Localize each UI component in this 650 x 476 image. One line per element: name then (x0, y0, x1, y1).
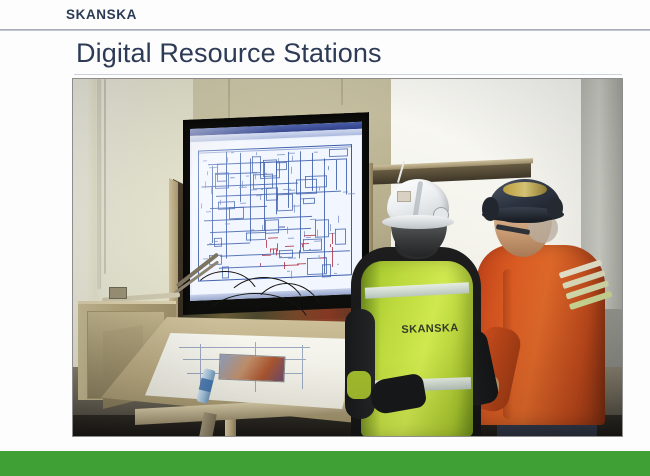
floorplan-line (291, 271, 292, 279)
floorplan-line (332, 255, 333, 267)
floorplan-line (285, 246, 294, 247)
floorplan-line (276, 169, 286, 170)
floorplan-line (289, 190, 295, 191)
worker-left-vest-logo-text: SKANSKA (393, 322, 467, 337)
cabinet-switch (109, 287, 127, 299)
skanska-logo: SKANSKA (66, 7, 137, 22)
floorplan-line (346, 158, 347, 194)
floorplan-line (317, 230, 318, 237)
floorplan-line (335, 229, 345, 230)
page-title: Digital Resource Stations (76, 38, 382, 69)
floorplan-line (214, 246, 221, 247)
floorplan-line (204, 216, 312, 222)
floorplan-line (265, 232, 278, 234)
floorplan-line (312, 153, 313, 191)
floorplan-line (335, 244, 345, 245)
floorplan-line (316, 179, 317, 194)
floorplan-line (277, 154, 285, 155)
floorplan-line (288, 153, 295, 154)
wall-cable-a (97, 79, 100, 289)
floorplan-line (256, 152, 257, 155)
floorplan-line (326, 175, 327, 187)
floorplan-line (329, 149, 330, 156)
floorplan-line (265, 219, 278, 221)
floorplan-line (321, 238, 322, 250)
floorplan-line (215, 241, 218, 242)
floorplan-line (302, 244, 303, 247)
floorplan-line (292, 205, 300, 206)
floorplan-line (309, 249, 311, 250)
floorplan-line (277, 243, 278, 251)
photo-scene: SKANSKA (73, 79, 622, 436)
floorplan-line (286, 162, 287, 170)
floorplan-line (287, 227, 288, 234)
floorplan-line (270, 249, 271, 253)
floorplan-line (231, 152, 234, 153)
worker-left-arm-left (345, 309, 375, 419)
floorplan-line (314, 241, 321, 242)
floorplan-line (288, 238, 294, 239)
ceiling-wire-b (341, 79, 343, 105)
floorplan-line (303, 239, 304, 250)
floorplan-line (260, 263, 261, 266)
footer-accent-bar (0, 451, 650, 476)
floorplan-line (211, 187, 212, 194)
worker-right-earmuff-left (482, 197, 499, 221)
floorplan-line (240, 203, 246, 204)
floorplan-line (227, 157, 228, 162)
floorplan-line (220, 250, 350, 256)
floorplan-line (296, 180, 297, 194)
worker-left-hardhat-brim (382, 215, 454, 229)
floorplan-line (229, 207, 230, 218)
floorplan-line (332, 247, 333, 255)
floorplan-line (322, 264, 323, 276)
floorplan-line (322, 264, 330, 265)
floorplan-line (228, 172, 229, 188)
floorplan-line (296, 179, 316, 181)
floorplan-line (277, 194, 292, 196)
floorplan-line (335, 229, 336, 244)
floorplan-line (250, 229, 254, 230)
floorplan-line (303, 203, 314, 204)
floorplan-line (296, 193, 316, 195)
floorplan-line (253, 174, 254, 188)
floorplan-line (278, 158, 279, 162)
worker-left-hardhat-badge (397, 191, 411, 202)
floorplan-line (220, 200, 221, 205)
floorplan-line (264, 173, 267, 174)
floorplan-line (217, 180, 226, 181)
floorplan-line (319, 188, 320, 191)
floorplan-line (326, 257, 327, 274)
floorplan-line (285, 264, 299, 266)
floorplan-line (214, 238, 221, 239)
floorplan-line (219, 265, 286, 269)
ceiling-wire-a (228, 79, 230, 119)
floorplan-line (315, 219, 328, 221)
floorplan-line (215, 173, 216, 188)
worker-right-earmuff-right (547, 197, 563, 219)
floorplan-line (205, 181, 206, 188)
slide-canvas: SKANSKA Digital Resource Stations (0, 0, 650, 476)
floorplan-line (330, 264, 331, 277)
wall-cable-b (104, 79, 106, 274)
floorplan-line (217, 163, 226, 164)
floorplan-line (243, 207, 244, 219)
floorplan-line (221, 238, 222, 247)
floorplan-line (330, 244, 331, 247)
floorplan-line (277, 210, 292, 212)
floorplan-line (226, 163, 227, 181)
floorplan-line (198, 151, 199, 281)
floorplan-line (266, 188, 267, 191)
floorplan-line (314, 152, 318, 153)
floorplan-line (260, 170, 261, 173)
slide-photo: SKANSKA (73, 79, 622, 436)
floorplan-line (201, 203, 202, 208)
floorplan-line (251, 189, 257, 190)
floorplan-line (334, 273, 337, 274)
floorplan-line (207, 171, 208, 175)
floorplan-line (292, 194, 293, 211)
floorplan-line (230, 177, 235, 178)
floorplan-line (328, 166, 329, 169)
floorplan-line (268, 237, 278, 238)
worker-left-glove (347, 371, 371, 399)
floorplan-line (291, 167, 292, 174)
floorplan-line (255, 174, 256, 179)
floorplan-line (343, 191, 348, 192)
title-underline (74, 74, 622, 75)
floorplan-line (303, 198, 314, 199)
floorplan-line (299, 250, 300, 258)
floorplan-line (336, 160, 337, 190)
floorplan-line (287, 271, 290, 272)
floorplan-line (279, 256, 282, 257)
floorplan-line (305, 176, 306, 187)
floorplan-line (246, 232, 265, 234)
worker-right-hardhat-highlight (503, 182, 547, 197)
floorplan-line (292, 156, 293, 161)
floorplan-line (322, 276, 330, 277)
floorplan-line (329, 155, 347, 157)
floorplan-line (300, 151, 301, 252)
floorplan-line (246, 233, 247, 240)
floorplan-line (306, 237, 311, 238)
floorplan-line (351, 144, 352, 274)
floorplan-line (229, 207, 243, 209)
floorplan-line (206, 211, 211, 212)
floorplan-line (246, 176, 249, 177)
floorplan-line (203, 160, 207, 161)
floorplan-line (305, 175, 326, 177)
floorplan-line (329, 148, 347, 150)
floorplan-line (345, 228, 346, 244)
floorplan-line (277, 194, 278, 210)
floorplan-line (239, 187, 247, 188)
floorplan-line (225, 223, 230, 224)
floorplan-line (209, 243, 212, 244)
floorplan-line (217, 164, 218, 181)
floorplan-line (276, 159, 277, 176)
floorplan-line (279, 250, 292, 252)
floorplan-line (252, 156, 260, 157)
floorplan-line (292, 250, 293, 258)
floorplan-line (265, 220, 266, 233)
floorplan-line (262, 225, 263, 230)
floorplan-line (337, 264, 339, 265)
floorplan-line (348, 193, 355, 194)
floorplan-line (252, 156, 253, 172)
floorplan-line (261, 189, 263, 190)
floorplan-line (332, 233, 333, 244)
printed-photo (218, 354, 285, 383)
floorplan-line (246, 239, 265, 241)
floorplan-line (338, 216, 339, 223)
floorplan-line (221, 255, 222, 265)
floorplan-line (301, 198, 304, 199)
floorplan-line (209, 167, 217, 168)
floorplan-line (307, 258, 308, 274)
floorplan-line (347, 148, 348, 156)
floorplan-line (288, 258, 296, 259)
header-divider (0, 29, 650, 31)
floorplan-line (260, 196, 261, 200)
floorplan-line (330, 224, 331, 231)
floorplan-line (279, 161, 280, 178)
floorplan-line (262, 255, 271, 256)
floorplan-line (218, 202, 219, 209)
floorplan-line (318, 256, 320, 257)
floorplan-line (256, 195, 262, 196)
floorplan-line (328, 219, 329, 237)
floorplan-line (242, 181, 243, 188)
floorplan-line (314, 198, 315, 204)
floorplan-line (201, 186, 203, 187)
floorplan-line (266, 240, 267, 248)
floorplan-line (324, 164, 325, 172)
